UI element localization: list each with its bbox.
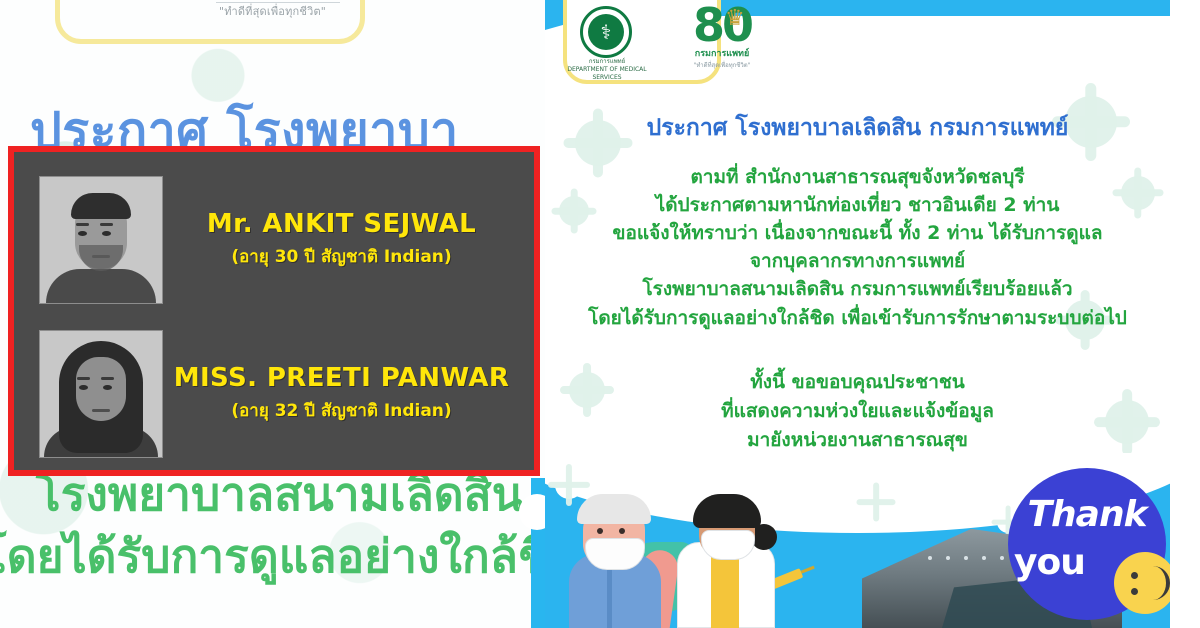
thanks-line: ที่แสดงความห่วงใยและแจ้งข้อมูล [555,397,1160,426]
person-row: MISS. PREETI PANWAR (อายุ 32 ปี สัญชาติ … [14,330,534,458]
smiley-face-icon [1114,552,1170,614]
left-panel-green-line-2: โดยได้รับการดูแลอย่างใกล้ชิด [0,520,545,593]
virus-icon [863,489,889,515]
thanks-paragraph: ทั้งนี้ ขอขอบคุณประชาชน ที่แสดงความห่วงใ… [555,368,1160,455]
ministry-name-th: กรมการแพทย์ [559,58,655,66]
avatar [39,176,163,304]
thanks-line: มายังหน่วยงานสาธารณสุข [555,426,1160,455]
body-line: โดยได้รับการดูแลอย่างใกล้ชิด เพื่อเข้ารั… [555,304,1160,332]
left-zoomed-panel: "ทำดีที่สุดเพื่อทุกชีวิต" ประกาศ โรงพยาบ… [0,0,545,628]
announcement-body: ตามที่ สำนักงานสาธารณสุขจังหวัดชลบุรี ได… [555,163,1160,332]
body-line: ขอแจ้งให้ทราบว่า เนื่องจากขณะนี้ ทั้ง 2 … [555,219,1160,247]
anniversary-number: 80 [663,2,781,48]
person-info: Mr. ANKIT SEJWAL (อายุ 30 ปี สัญชาติ Ind… [163,210,534,271]
red-highlight-box: Mr. ANKIT SEJWAL (อายุ 30 ปี สัญชาติ Ind… [8,146,540,476]
person-details: (อายุ 30 ปี สัญชาติ Indian) [163,243,520,270]
avatar [39,330,163,458]
ministry-name-en: DEPARTMENT OF MEDICAL SERVICES [559,66,655,82]
poster-screenshot: "ทำดีที่สุดเพื่อทุกชีวิต" ประกาศ โรงพยาบ… [0,0,1200,628]
anniversary-org-name: กรมการแพทย์ [663,46,781,60]
thank-you-line-2: you [1014,542,1085,583]
person-row: Mr. ANKIT SEJWAL (อายุ 30 ปี สัญชาติ Ind… [14,176,534,304]
ministry-of-public-health-logo: ⚕ [580,6,632,58]
doctor-illustration [675,478,779,628]
bottom-illustration: Thank you [545,453,1170,628]
person-name: Mr. ANKIT SEJWAL [163,210,520,240]
anniversary-80-logo: ♛ 80 กรมการแพทย์ "ทำดีที่สุดเพื่อทุกชีวิ… [663,2,781,82]
crown-icon: ♛ [725,6,745,31]
ministry-logo-caption: กรมการแพทย์ DEPARTMENT OF MEDICAL SERVIC… [559,58,655,82]
person-info: MISS. PREETI PANWAR (อายุ 32 ปี สัญชาติ … [163,364,534,425]
person-name: MISS. PREETI PANWAR [163,364,520,394]
body-line: ตามที่ สำนักงานสาธารณสุขจังหวัดชลบุรี [555,163,1160,191]
face-mask-icon [701,530,755,560]
elderly-patient-illustration [563,488,671,628]
thank-you-line-1: Thank [1008,494,1166,535]
body-line: จากบุคลากรทางการแพทย์ [555,247,1160,275]
person-details: (อายุ 32 ปี สัญชาติ Indian) [163,397,520,424]
face-mask-icon [585,538,645,570]
left-panel-tagline: "ทำดีที่สุดเพื่อทุกชีวิต" [0,2,545,20]
thanks-line: ทั้งนี้ ขอขอบคุณประชาชน [555,368,1160,397]
anniversary-tagline: "ทำดีที่สุดเพื่อทุกชีวิต" [663,60,781,70]
right-poster: ⚕ กรมการแพทย์ DEPARTMENT OF MEDICAL SERV… [545,0,1170,628]
page-title: ประกาศ โรงพยาบาลเลิดสิน กรมการแพทย์ [545,110,1170,146]
body-line: ได้ประกาศตามหานักท่องเที่ยว ชาวอินเดีย 2… [555,191,1160,219]
right-white-gutter [1170,0,1200,628]
body-line: โรงพยาบาลสนามเลิดสิน กรมการแพทย์เรียบร้อ… [555,275,1160,303]
